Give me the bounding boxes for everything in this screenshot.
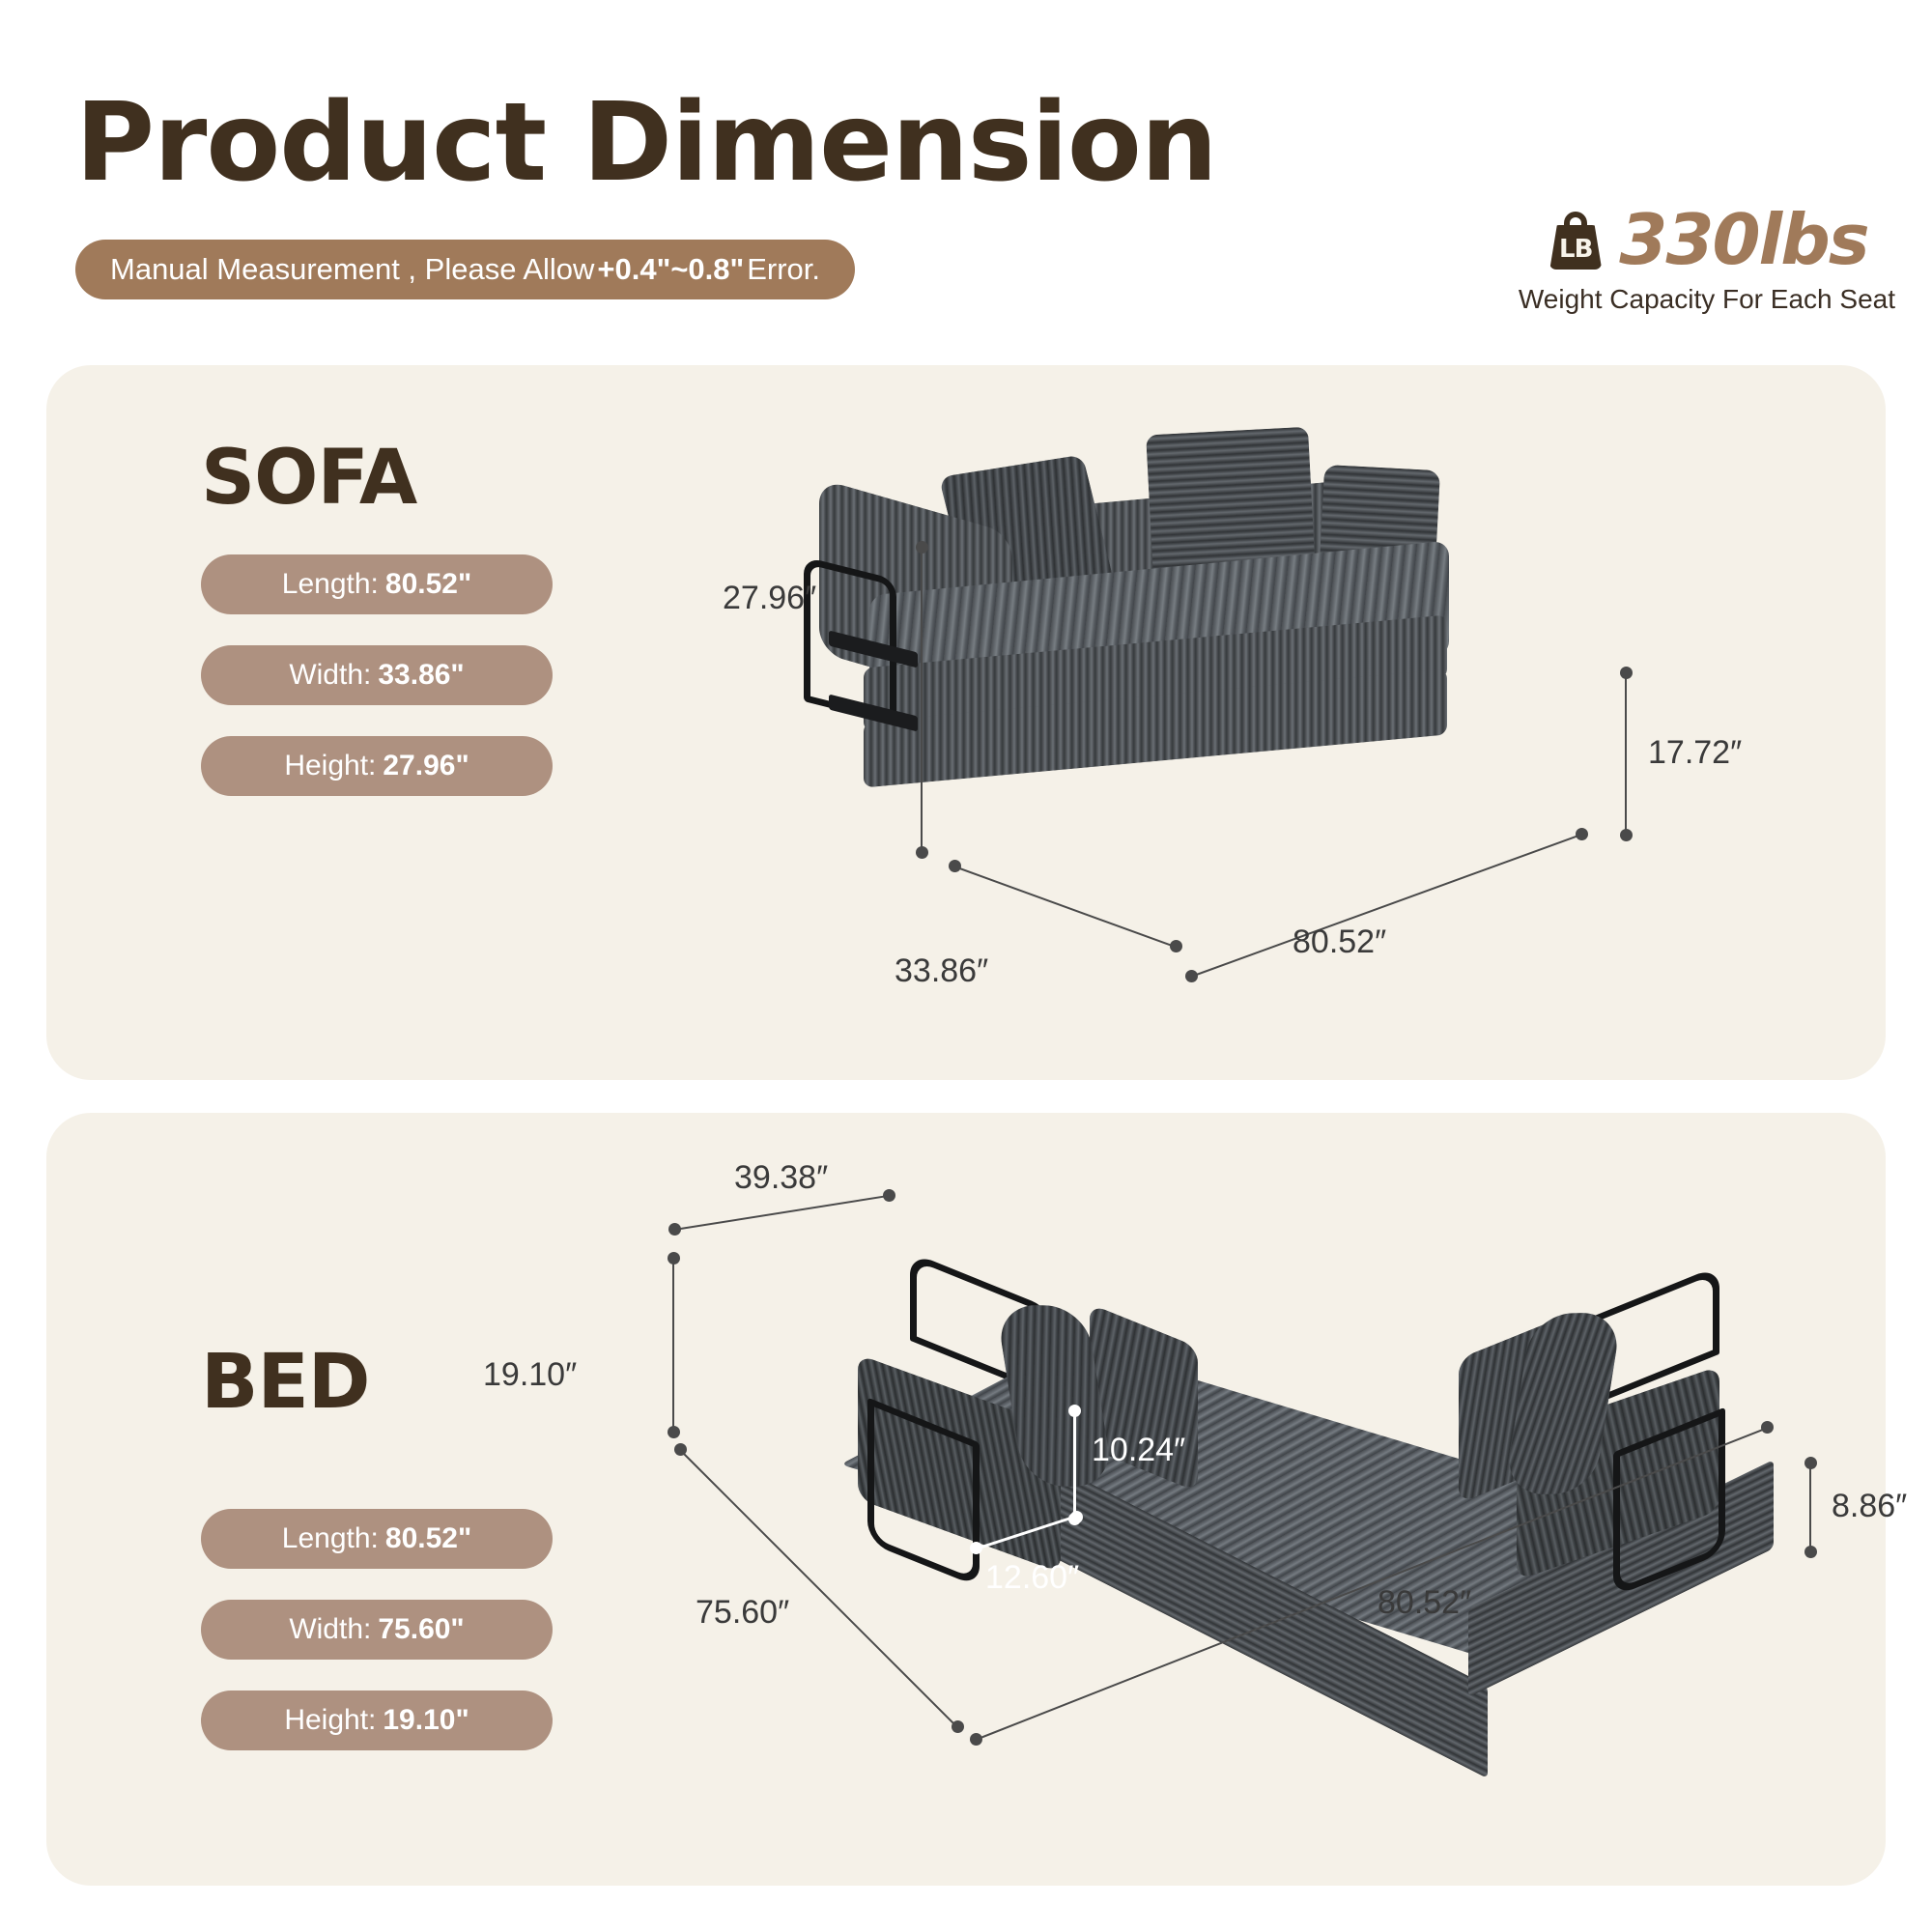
dim-dot	[1804, 1546, 1817, 1558]
sofa-illustration	[811, 423, 1488, 790]
sofa-depth-dimline	[954, 866, 1176, 948]
bed-arm-height-dimline	[1073, 1410, 1076, 1519]
weight-caption: Weight Capacity For Each Seat	[1519, 284, 1895, 315]
sofa-seat-height-callout: 17.72″	[1648, 734, 1742, 772]
weight-capacity-block: LB 330lbs Weight Capacity For Each Seat	[1519, 205, 1895, 315]
dim-dot	[1170, 940, 1182, 952]
note-prefix: Manual Measurement , Please Allow	[110, 252, 594, 287]
page-header: Product Dimension Manual Measurement , P…	[0, 0, 1932, 357]
dim-dot	[970, 1733, 982, 1746]
dim-dot	[916, 541, 928, 554]
sofa-height-dimline	[921, 547, 923, 852]
dim-dot	[674, 1443, 687, 1456]
note-emphasis: +0.4"~0.8"	[594, 252, 747, 287]
bed-height-pill: Height: 19.10"	[201, 1690, 553, 1750]
weight-value: 330lbs	[1619, 205, 1867, 274]
bed-section-card: BED Length: 80.52" Width: 75.60" Height:…	[46, 1113, 1886, 1886]
sofa-length-pill: Length: 80.52"	[201, 554, 553, 614]
bed-height-dimline	[672, 1258, 674, 1432]
dim-dot	[1620, 829, 1633, 841]
bed-width-value: 75.60"	[378, 1613, 464, 1646]
sofa-length-callout: 80.52″	[1293, 923, 1386, 961]
weight-lb-icon: LB	[1546, 210, 1605, 270]
bed-arm-span-dimline	[674, 1195, 890, 1231]
sofa-depth-callout: 33.86″	[895, 952, 988, 990]
dim-dot	[1620, 667, 1633, 679]
bed-arm-height-callout: 10.24″	[1092, 1432, 1185, 1469]
sofa-seat-height-dimline	[1625, 672, 1627, 835]
bed-mattress-thickness-dimline	[1809, 1463, 1811, 1551]
bed-width-pill: Width: 75.60"	[201, 1600, 553, 1660]
sofa-height-label: Height:	[284, 750, 376, 782]
dim-dot	[883, 1189, 895, 1202]
dim-dot	[1761, 1421, 1774, 1434]
dim-dot	[1068, 1405, 1081, 1417]
dim-dot	[970, 1542, 982, 1554]
dim-dot	[668, 1252, 680, 1264]
sofa-height-pill: Height: 27.96"	[201, 736, 553, 796]
dim-dot	[949, 860, 961, 872]
measurement-note-badge: Manual Measurement , Please Allow +0.4"~…	[75, 240, 855, 299]
dim-dot	[668, 1223, 681, 1236]
bed-mattress-thickness-callout: 8.86″	[1832, 1488, 1907, 1525]
bed-height-callout: 19.10″	[483, 1356, 577, 1394]
bed-width-label: Width:	[289, 1613, 371, 1646]
bed-length-label: Length:	[282, 1522, 379, 1555]
sofa-length-value: 80.52"	[385, 568, 471, 601]
dim-dot	[952, 1720, 964, 1733]
dim-dot	[1070, 1511, 1083, 1523]
dim-dot	[668, 1426, 680, 1438]
bed-illustration	[840, 1256, 1768, 1777]
bed-width-callout: 75.60″	[696, 1594, 789, 1632]
sofa-length-label: Length:	[282, 568, 379, 601]
bed-length-callout: 80.52″	[1378, 1584, 1471, 1622]
dim-dot	[916, 846, 928, 859]
bed-length-value: 80.52"	[385, 1522, 471, 1555]
dim-dot	[1804, 1457, 1817, 1469]
note-suffix: Error.	[747, 252, 820, 287]
bed-arm-span-callout: 39.38″	[734, 1159, 828, 1197]
dim-dot	[1576, 828, 1588, 840]
bed-section-title: BED	[201, 1345, 369, 1420]
sofa-width-label: Width:	[289, 659, 371, 692]
sofa-height-callout: 27.96″	[723, 580, 816, 617]
bed-arm-width-callout: 12.60″	[985, 1559, 1079, 1597]
bed-height-label: Height:	[284, 1704, 376, 1737]
page-title: Product Dimension	[75, 89, 1217, 197]
bed-height-value: 19.10"	[383, 1704, 469, 1737]
dim-dot	[1185, 970, 1198, 982]
lb-icon-label: LB	[1546, 235, 1605, 264]
sofa-width-pill: Width: 33.86"	[201, 645, 553, 705]
sofa-section-card: SOFA Length: 80.52" Width: 33.86" Height…	[46, 365, 1886, 1080]
bed-length-pill: Length: 80.52"	[201, 1509, 553, 1569]
sofa-height-value: 27.96"	[383, 750, 469, 782]
sofa-width-value: 33.86"	[378, 659, 464, 692]
sofa-section-title: SOFA	[201, 440, 416, 516]
